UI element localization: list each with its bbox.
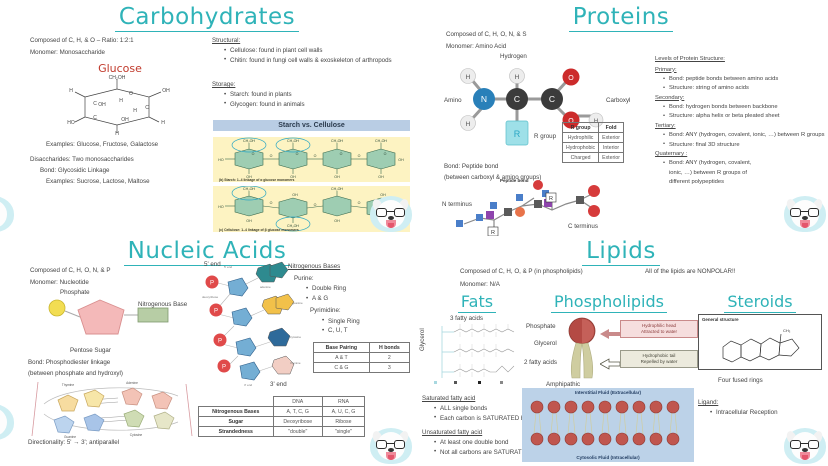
dog-mascot: [782, 192, 828, 232]
svg-text:H: H: [466, 74, 471, 81]
svg-text:HO: HO: [218, 158, 224, 162]
ch3-label: CH₃: [783, 328, 791, 333]
svg-text:CH₂OH: CH₂OH: [243, 187, 255, 191]
svg-text:P: P: [218, 339, 222, 345]
svg-text:5' end: 5' end: [224, 265, 232, 269]
svg-text:CH₂OH: CH₂OH: [287, 139, 299, 143]
protein-composed: Composed of C, H, O, N, & S: [446, 30, 526, 40]
figure-title: Starch vs. Cellulose: [213, 120, 410, 131]
label-c-terminus: C terminus: [568, 222, 598, 232]
callout-hydrophobic-tail: Hydrophobic tail Repelled by water: [620, 350, 698, 368]
list-item: Structure: final 3D structure: [663, 141, 827, 150]
callout-hydrophilic-head: Hydrophilic head Attracted to water: [620, 320, 698, 338]
list-item: Starch: found in plants: [224, 90, 396, 100]
glucose-structure-svg: CH₂OH H HO OH H H O OH H H OH C C C: [55, 75, 185, 137]
dog-mascot-partial: [0, 192, 16, 232]
svg-text:CH₂OH: CH₂OH: [331, 139, 343, 143]
level-items: Bond: ANY (hydrogen, covalent, ionic, …)…: [655, 159, 763, 187]
list-item: Double Ring: [306, 284, 413, 294]
starch-row: CH₂OHCH₂OH CH₂OHCH₂OH OHOH OHOH HOOH OOO…: [213, 137, 410, 182]
level-name: Quaternary :: [655, 150, 827, 160]
list-item: C, U, T: [322, 326, 413, 336]
table-row: Sugar Deoxyribose Ribose: [199, 417, 365, 427]
svg-text:thymine: thymine: [290, 361, 301, 365]
dog-mascot: [368, 424, 414, 464]
triglyceride-figure: [432, 322, 532, 384]
level-name: Primary:: [655, 66, 827, 76]
svg-text:H: H: [133, 108, 137, 114]
svg-text:C: C: [514, 94, 520, 104]
label-peptide-bond: Peptide bond: [500, 178, 529, 183]
svg-text:O: O: [358, 201, 361, 205]
ligand-list: Intracellular Reception: [702, 408, 828, 418]
steroids-four-rings: Four fused rings: [718, 376, 763, 386]
steroid-box-label: General structure: [702, 317, 739, 322]
svg-text:O: O: [270, 154, 273, 158]
svg-text:H: H: [69, 88, 73, 94]
svg-text:H: H: [115, 131, 119, 137]
list-item: A & G: [306, 294, 413, 304]
saturated-heading: Saturated fatty acid: [422, 394, 475, 404]
label-n-terminus: N terminus: [442, 200, 472, 210]
table-row: Nitrogenous Bases A, T, C, G A, U, C, G: [199, 407, 365, 417]
svg-text:R: R: [514, 129, 521, 139]
label-amino: Amino: [444, 96, 462, 106]
label-three-end: 3' end: [270, 380, 287, 390]
svg-text:OH: OH: [398, 158, 404, 162]
svg-text:H: H: [515, 74, 520, 81]
lipid-bilayer-figure: Interstitial Fluid (Extracellular): [522, 388, 694, 462]
peptide-chain-diagram: R R Peptide bond N terminus C terminus: [442, 180, 632, 236]
svg-text:P: P: [210, 281, 214, 287]
svg-text:adenine: adenine: [260, 285, 271, 289]
level-name: Secondary:: [655, 94, 827, 104]
svg-text:O: O: [340, 152, 343, 156]
svg-text:CH₂OH: CH₂OH: [331, 187, 343, 191]
starch-caption: (b) Starch: 1–4 linkage of α glucose mon…: [219, 178, 294, 182]
dna-helix-figure: Thymine Adenine Guanine Cytosine: [28, 378, 203, 440]
table-row: A & T 2: [314, 353, 410, 363]
level-items: Bond: peptide bonds between amino acids …: [655, 75, 827, 94]
svg-text:OH: OH: [246, 219, 252, 223]
svg-text:C: C: [145, 105, 149, 111]
carb-monomer: Monomer: Monosaccharide: [30, 48, 220, 58]
quadrant-lipids: Lipids Composed of C, H, O, & P (in phos…: [414, 236, 828, 466]
label-r-group: R group: [534, 132, 556, 142]
phospholipid-molecule: [562, 316, 604, 384]
label-hydrogen: Hydrogen: [500, 52, 527, 62]
pl-phosphate-label: Phosphate: [526, 322, 556, 332]
carb-structural-list: Cellulose: found in plant cell walls Chi…: [216, 46, 396, 66]
carbohydrates-title: Carbohydrates: [0, 4, 414, 30]
level-name: Tertiary:: [655, 122, 827, 132]
na-monomer: Monomer: Nucleotide: [30, 278, 89, 288]
svg-text:H: H: [161, 120, 165, 126]
list-item: Structure: string of amino acids: [663, 84, 827, 93]
bilayer-top-label: Interstitial Fluid (Extracellular): [522, 388, 694, 395]
svg-text:OH: OH: [121, 117, 129, 123]
levels-heading: Levels of Protein Structure:: [655, 55, 827, 65]
svg-text:Cytosine: Cytosine: [130, 433, 143, 437]
list-item: Cellulose: found in plant cell walls: [224, 46, 396, 56]
quadrant-nucleic-acids: Nucleic Acids Composed of C, H, O, N, & …: [0, 236, 414, 466]
level-items: Bond: ANY (hydrogen, covalent, ionic, …)…: [655, 131, 827, 150]
svg-text:C: C: [93, 101, 97, 107]
svg-text:O: O: [568, 75, 574, 82]
level-items: Bond: hydrogen bonds between backbone St…: [655, 103, 827, 122]
lipids-composed: Composed of C, H, O, & P (in phospholipi…: [460, 267, 583, 277]
svg-text:O: O: [129, 91, 133, 97]
label-phosphate: Phosphate: [60, 288, 90, 298]
ligand-heading: Ligand:: [698, 398, 718, 408]
list-item: Intracellular Reception: [710, 408, 828, 418]
svg-text:Thymine: Thymine: [62, 383, 74, 387]
svg-text:O: O: [314, 154, 317, 158]
pl-two-fatty-acids-label: 2 fatty acids: [524, 358, 557, 368]
svg-text:N: N: [481, 94, 487, 104]
list-item: Bond: hydrogen bonds between backbone: [663, 103, 827, 112]
svg-text:O: O: [358, 154, 361, 158]
nucleotide-diagram: Phosphate Nitrogenous Base Pentose Sugar: [32, 288, 212, 358]
label-carboxyl: Carboxyl: [606, 96, 630, 106]
svg-text:O: O: [270, 201, 273, 205]
svg-text:CH₂OH: CH₂OH: [243, 139, 255, 143]
base-pairing-table: Base Pairing H bonds A & T 2 C & G 3: [313, 342, 410, 373]
svg-text:C: C: [549, 94, 555, 104]
svg-text:H: H: [466, 121, 471, 128]
steroids-subtitle: Steroids: [696, 292, 824, 311]
svg-text:P: P: [222, 365, 226, 371]
na-directionality: Directionality: 5' → 3'; antiparallel: [28, 438, 119, 448]
table-header: R group: [563, 123, 599, 133]
svg-text:OH: OH: [98, 102, 106, 108]
table-header: H bonds: [369, 343, 409, 353]
dog-mascot: [368, 192, 414, 232]
quadrant-carbohydrates: Carbohydrates Composed of C, H, & O – Ra…: [0, 0, 414, 236]
svg-text:C: C: [93, 115, 97, 121]
table-row: C & G 3: [314, 363, 410, 373]
table-header: Fold: [599, 123, 624, 133]
biology-macromolecules-slide: Carbohydrates Composed of C, H, & O – Ra…: [0, 0, 828, 466]
fats-subtitle: Fats: [422, 292, 532, 311]
protein-monomer: Monomer: Amino Acid: [446, 42, 506, 52]
svg-text:deoxyribose: deoxyribose: [202, 295, 219, 299]
svg-text:O: O: [252, 152, 255, 156]
svg-text:OH: OH: [378, 175, 384, 179]
label-five-end: 5' end: [204, 260, 221, 270]
list-item: Chitin: found in fungi cell walls & exos…: [224, 56, 396, 66]
proteins-title: Proteins: [414, 4, 828, 30]
svg-text:H: H: [119, 98, 123, 104]
r-group-table: R group Fold Hydrophilic Exterior Hydrop…: [562, 122, 624, 163]
table-header: Base Pairing: [314, 343, 370, 353]
dog-mascot-partial: [0, 400, 16, 440]
na-composed: Composed of C, H, O, N, & P: [30, 266, 110, 276]
table-row: Hydrophobic Interior: [563, 143, 624, 153]
glucose-label: Glucose: [55, 62, 185, 75]
list-item: Bond: ANY (hydrogen, covalent, ionic, …)…: [663, 131, 827, 140]
pyrimidine-heading: Pyrimidine:: [310, 306, 413, 316]
purine-heading: Purine:: [294, 274, 413, 284]
lipids-monomer: Monomer: N/A: [460, 280, 500, 290]
dna-rna-table: DNA RNA Nitrogenous Bases A, T, C, G A, …: [198, 396, 365, 437]
list-item: Structure: alpha helix or beta pleated s…: [663, 112, 827, 121]
na-bond-line1: Bond: Phosphodiester linkage: [28, 358, 110, 368]
phospholipids-subtitle: Phospholipids: [526, 292, 692, 311]
svg-text:O: O: [314, 203, 317, 207]
bilayer-bottom-label: Cytosolic Fluid (Intracellular): [522, 455, 694, 460]
svg-text:P: P: [214, 309, 218, 315]
bases-heading: Nitrogenous Bases: [288, 262, 413, 272]
steroid-structure-box: General structure CH₃: [698, 314, 822, 370]
dog-mascot: [782, 424, 828, 464]
svg-text:OH: OH: [334, 175, 340, 179]
list-item: Single Ring: [322, 317, 413, 327]
nitrogenous-bases-block: Nitrogenous Bases Purine: Double Ring A …: [288, 262, 413, 336]
svg-text:OH: OH: [292, 193, 298, 197]
fats-glycerol-label: Glycerol: [418, 311, 428, 351]
table-row: Strandedness "double" "single": [199, 427, 365, 437]
list-item: Bond: peptide bonds between amino acids: [663, 75, 827, 84]
svg-text:CH₂OH: CH₂OH: [109, 75, 126, 81]
svg-text:R: R: [549, 196, 553, 202]
svg-text:O: O: [384, 152, 387, 156]
table-row: Charged Exterior: [563, 153, 624, 163]
list-item: Glycogen: found in animals: [224, 100, 396, 110]
quadrant-proteins: Proteins Composed of C, H, O, N, & S Mon…: [414, 0, 828, 236]
unsaturated-heading: Unsaturated fatty acid: [422, 428, 482, 438]
label-pentose-sugar: Pentose Sugar: [70, 346, 111, 356]
arrow-head-icon: [600, 328, 620, 340]
svg-text:HO: HO: [67, 120, 75, 126]
carb-storage-list: Starch: found in plants Glycogen: found …: [216, 90, 396, 110]
lipids-nonpolar: All of the lipids are NONPOLAR!!: [645, 267, 735, 277]
table-header: DNA: [273, 397, 322, 407]
cellulose-caption: (c) Cellulose: 1–4 linkage of β glucose …: [219, 228, 299, 232]
protein-bond-line1: Bond: Peptide bond: [444, 162, 498, 172]
svg-text:CH₂OH: CH₂OH: [375, 139, 387, 143]
svg-text:Adenine: Adenine: [126, 381, 138, 385]
carb-composed: Composed of C, H, & O – Ratio: 1:2:1: [30, 36, 220, 46]
svg-text:OH: OH: [334, 219, 340, 223]
arrow-tail-icon: [600, 358, 620, 370]
svg-text:O: O: [296, 152, 299, 156]
list-item: Bond: ANY (hydrogen, covalent, ionic, …)…: [663, 159, 763, 187]
table-header: RNA: [322, 397, 364, 407]
protein-levels-block: Levels of Protein Structure: Primary: Bo…: [655, 55, 827, 187]
lipids-title: Lipids: [414, 238, 828, 264]
svg-text:3' end: 3' end: [244, 383, 252, 387]
table-row: Hydrophilic Exterior: [563, 133, 624, 143]
svg-text:OH: OH: [162, 88, 170, 94]
label-nitrogenous-base: Nitrogenous Base: [138, 300, 187, 310]
pl-glycerol-label: Glycerol: [534, 339, 557, 349]
svg-text:HO: HO: [218, 205, 224, 209]
glucose-figure: Glucose CH₂OH H HO OH: [55, 62, 185, 137]
steroid-svg: CH₃: [699, 315, 823, 371]
